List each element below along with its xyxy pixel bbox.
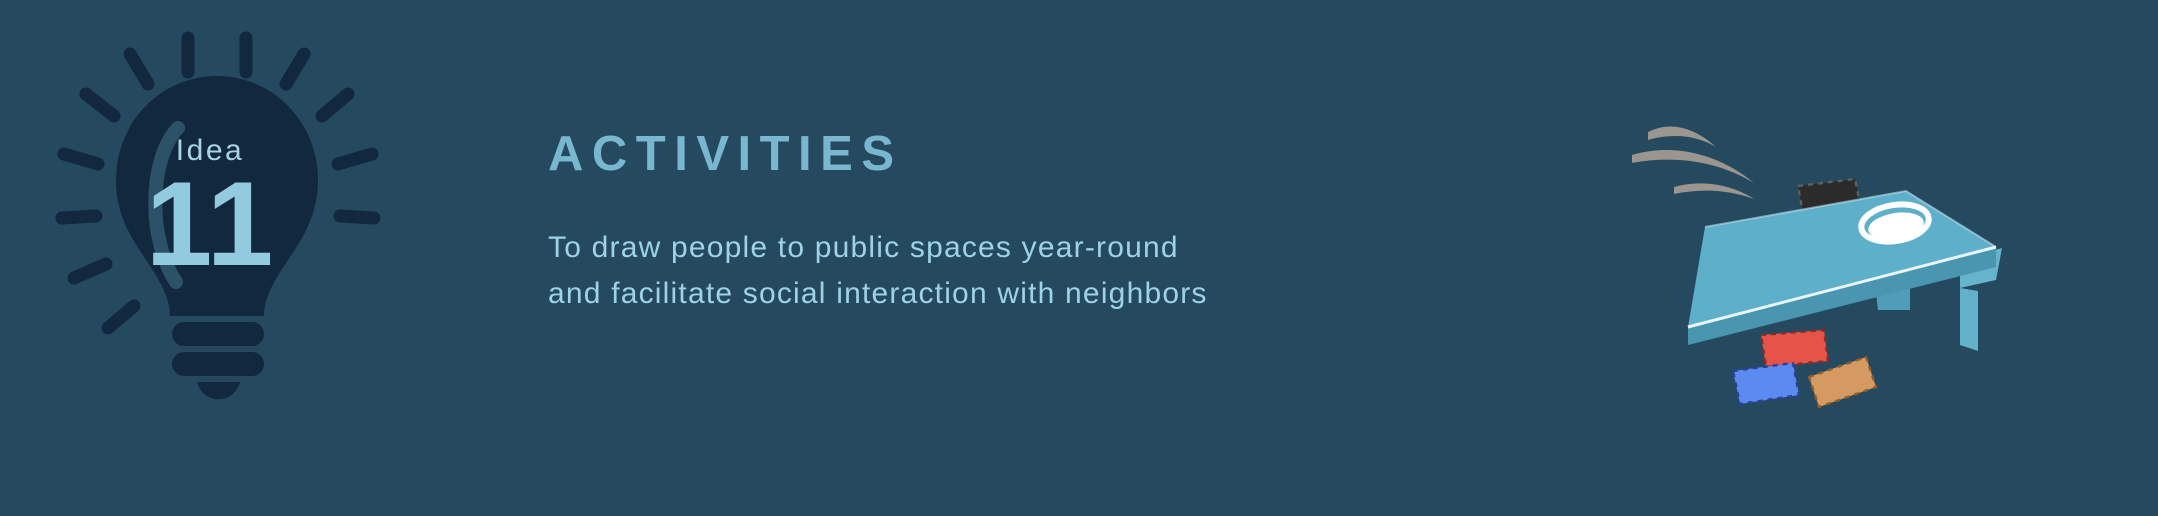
bean-bag-blue bbox=[1733, 363, 1799, 404]
motion-lines-icon bbox=[1632, 127, 1754, 199]
body-line-2: and facilitate social interaction with n… bbox=[548, 271, 1208, 317]
board-icon bbox=[1688, 191, 2002, 351]
bean-bag-tan bbox=[1809, 357, 1876, 407]
cornhole-board-illustration bbox=[1630, 95, 2060, 435]
lightbulb-base-icon bbox=[172, 322, 264, 399]
page-title: ACTIVITIES bbox=[548, 130, 1208, 179]
body-line-1: To draw people to public spaces year-rou… bbox=[548, 225, 1208, 271]
lightbulb-badge: Idea 11 bbox=[60, 10, 360, 380]
idea-banner: Idea 11 ACTIVITIES To draw people to pub… bbox=[0, 0, 2158, 516]
content-block: ACTIVITIES To draw people to public spac… bbox=[548, 130, 1208, 316]
lightbulb-glass-icon bbox=[116, 76, 318, 316]
board-leg-right-inner bbox=[1960, 288, 1978, 351]
bean-bag-red bbox=[1761, 330, 1828, 367]
